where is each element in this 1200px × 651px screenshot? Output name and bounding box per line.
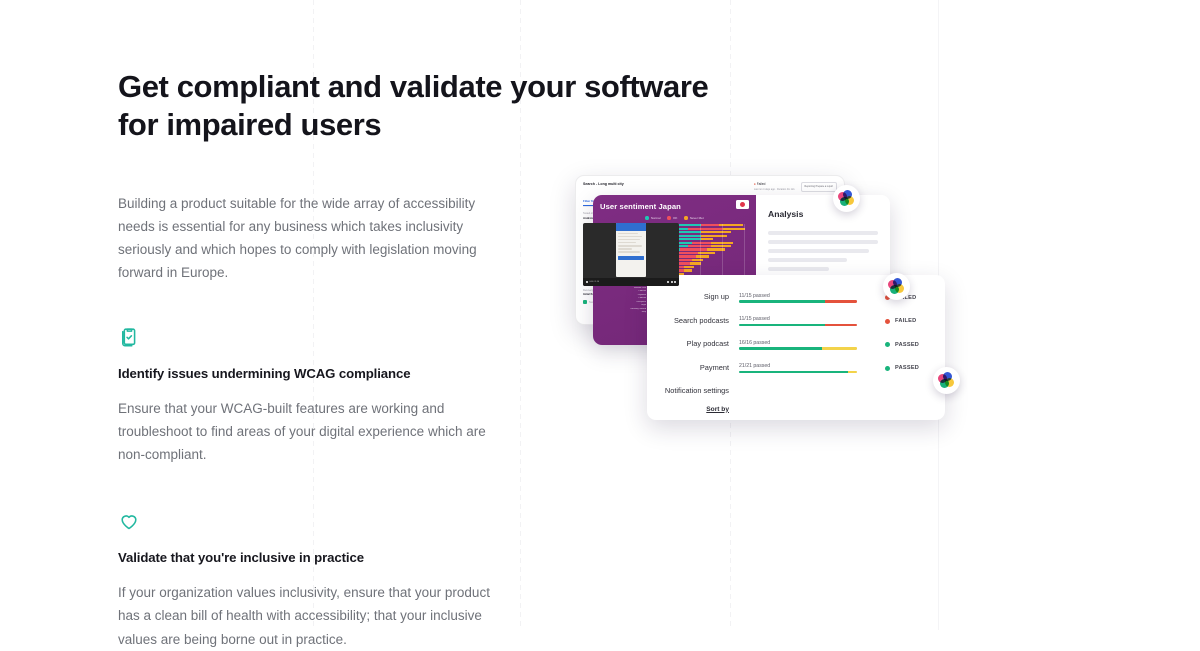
status-label: PASSED [895,365,919,371]
status-label: FAILED [895,318,916,324]
chart-category-label: Help [600,311,648,314]
brand-logo-icon [888,278,905,295]
progress-pass [739,300,825,302]
test-name: Search podcasts [657,317,739,326]
status-badge: FAILED [885,318,916,324]
clipboard-check-icon [118,326,140,348]
chart-bar-segment [723,228,745,230]
report-header: Search - Long multi city ● Failed Last r… [583,182,837,192]
report-status-meta: Last run 4 days ago · Duration 4m 12s [754,188,795,191]
test-name: Notification settings [657,387,739,396]
legend-dot-icon [667,216,671,220]
legend-item: OK [667,216,677,220]
chart-bar-segment [701,238,713,240]
chart-bar-segment [701,231,731,233]
test-row[interactable]: Search podcasts11/15 passedFAILED [647,310,945,334]
chart-bar-segment [711,245,731,247]
play-icon[interactable] [586,281,588,283]
logo-badge [933,367,960,394]
report-status-label: ● Failed [754,182,795,186]
feature-body: Ensure that your WCAG-built features are… [118,397,510,467]
test-name: Play podcast [657,340,739,349]
test-progress: 11/15 passed [739,316,857,326]
test-progress: 16/16 passed [739,340,857,350]
status-dot-icon: ● [754,182,756,186]
test-name: Payment [657,364,739,373]
test-progress-bar [739,300,857,302]
progress-tail [848,371,857,373]
progress-tail [825,324,857,326]
page-title: Get compliant and validate your software… [118,68,728,144]
skeleton-line [768,258,847,262]
test-row[interactable]: Payment21/21 passedPASSED [647,357,945,381]
intro-paragraph: Building a product suitable for the wide… [118,192,510,285]
status-badge: PASSED [885,342,919,348]
progress-tail [822,347,857,349]
test-progress: 21/21 passed [739,363,857,373]
report-title: Search - Long multi city [583,182,624,186]
brand-logo-icon [938,372,955,389]
chart-bar-segment [692,242,710,244]
page-root: Get compliant and validate your software… [0,0,1200,630]
heart-icon [118,510,140,532]
phone-header [616,223,646,231]
test-progress-bar [739,324,857,326]
product-screenshot-illustration: User sentiment Japan NormalOKNever Met L… [575,175,995,545]
chart-category-label: Reception [600,301,648,304]
report-status: ● Failed Last run 4 days ago · Duration … [754,182,795,191]
chart-bar-segment [684,269,692,271]
fullscreen-icon[interactable] [674,281,676,283]
chart-category-label: Remote Print [600,287,648,290]
logo-badge [833,185,860,212]
status-label: PASSED [895,342,919,348]
skeleton-line [768,267,829,271]
volume-icon[interactable] [667,281,669,283]
progress-tail [825,300,857,302]
test-count: 11/15 passed [739,316,857,322]
brand-logo-icon [838,190,855,207]
progress-pass [739,347,822,349]
chart-bar-segment [696,255,708,257]
skeleton-line [768,249,869,253]
status-dot-icon [885,366,890,371]
test-progress-bar [739,347,857,349]
legend-label: Never Met [690,216,704,220]
chart-legend: NormalOKNever Met [600,216,749,220]
feature-block-compliance: Identify issues undermining WCAG complia… [118,326,518,467]
report-header-right: ● Failed Last run 4 days ago · Duration … [754,182,837,192]
logo-badge [883,273,910,300]
japan-flag-icon [736,200,749,209]
chart-bar-segment [688,228,722,230]
phone-cta [618,256,644,260]
settings-icon[interactable] [671,281,673,283]
chart-bar-segment [676,255,696,257]
chart-category-label: Podcast [600,290,648,293]
chart-bar-segment [701,224,719,226]
success-dot-icon [583,300,587,304]
prepare-report-button[interactable]: Reporting Prepare a report [801,182,837,192]
video-time: 0:00 / 1:14 [590,281,599,283]
chart-bar-segment [684,266,694,268]
legend-label: OK [673,216,677,220]
chart-category-label: Recently Viewed [600,308,648,311]
chart-category-label: Payment [600,294,648,297]
device-video-preview[interactable]: 0:00 / 1:14 [583,223,679,286]
chart-category-label: Podcast [600,297,648,300]
chart-bar-segment [692,259,702,261]
chart-bar-segment [690,262,700,264]
video-player-controls[interactable]: 0:00 / 1:14 [583,278,679,286]
feature-body: If your organization values inclusivity,… [118,581,510,651]
test-count: 11/15 passed [739,293,857,299]
feature-title: Validate that you're inclusive in practi… [118,550,518,565]
test-count: 21/21 passed [739,363,857,369]
test-row[interactable]: Play podcast16/16 passedPASSED [647,333,945,357]
status-dot-icon [885,319,890,324]
progress-pass [739,324,825,326]
status-badge: PASSED [885,365,919,371]
test-progress-bar [739,371,857,373]
skeleton-line [768,240,878,244]
content-column: Get compliant and validate your software… [118,68,518,651]
phone-mock [616,223,646,277]
sentiment-card-title: User sentiment Japan [600,202,749,211]
skeleton-line [768,231,878,235]
legend-dot-icon [645,216,649,220]
test-count: 16/16 passed [739,340,857,346]
legend-dot-icon [684,216,688,220]
status-dot-icon [885,342,890,347]
feature-title: Identify issues undermining WCAG complia… [118,366,518,381]
report-device-column: Tested on: Simulator Android 12.0 / Sams… [583,212,679,297]
progress-pass [739,371,848,373]
chart-bar-segment [680,248,706,250]
test-progress: 11/15 passed [739,293,857,303]
test-name: Sign up [657,293,739,302]
chart-category-label: Login [600,304,648,307]
sort-by-label[interactable]: Sort by [647,404,739,413]
test-row[interactable]: Notification settings [647,380,945,404]
legend-label: Normal [651,216,661,220]
legend-item: Normal [645,216,660,220]
chart-bar-segment [678,252,698,254]
legend-item: Never Met [684,216,703,220]
analysis-title: Analysis [768,209,878,219]
